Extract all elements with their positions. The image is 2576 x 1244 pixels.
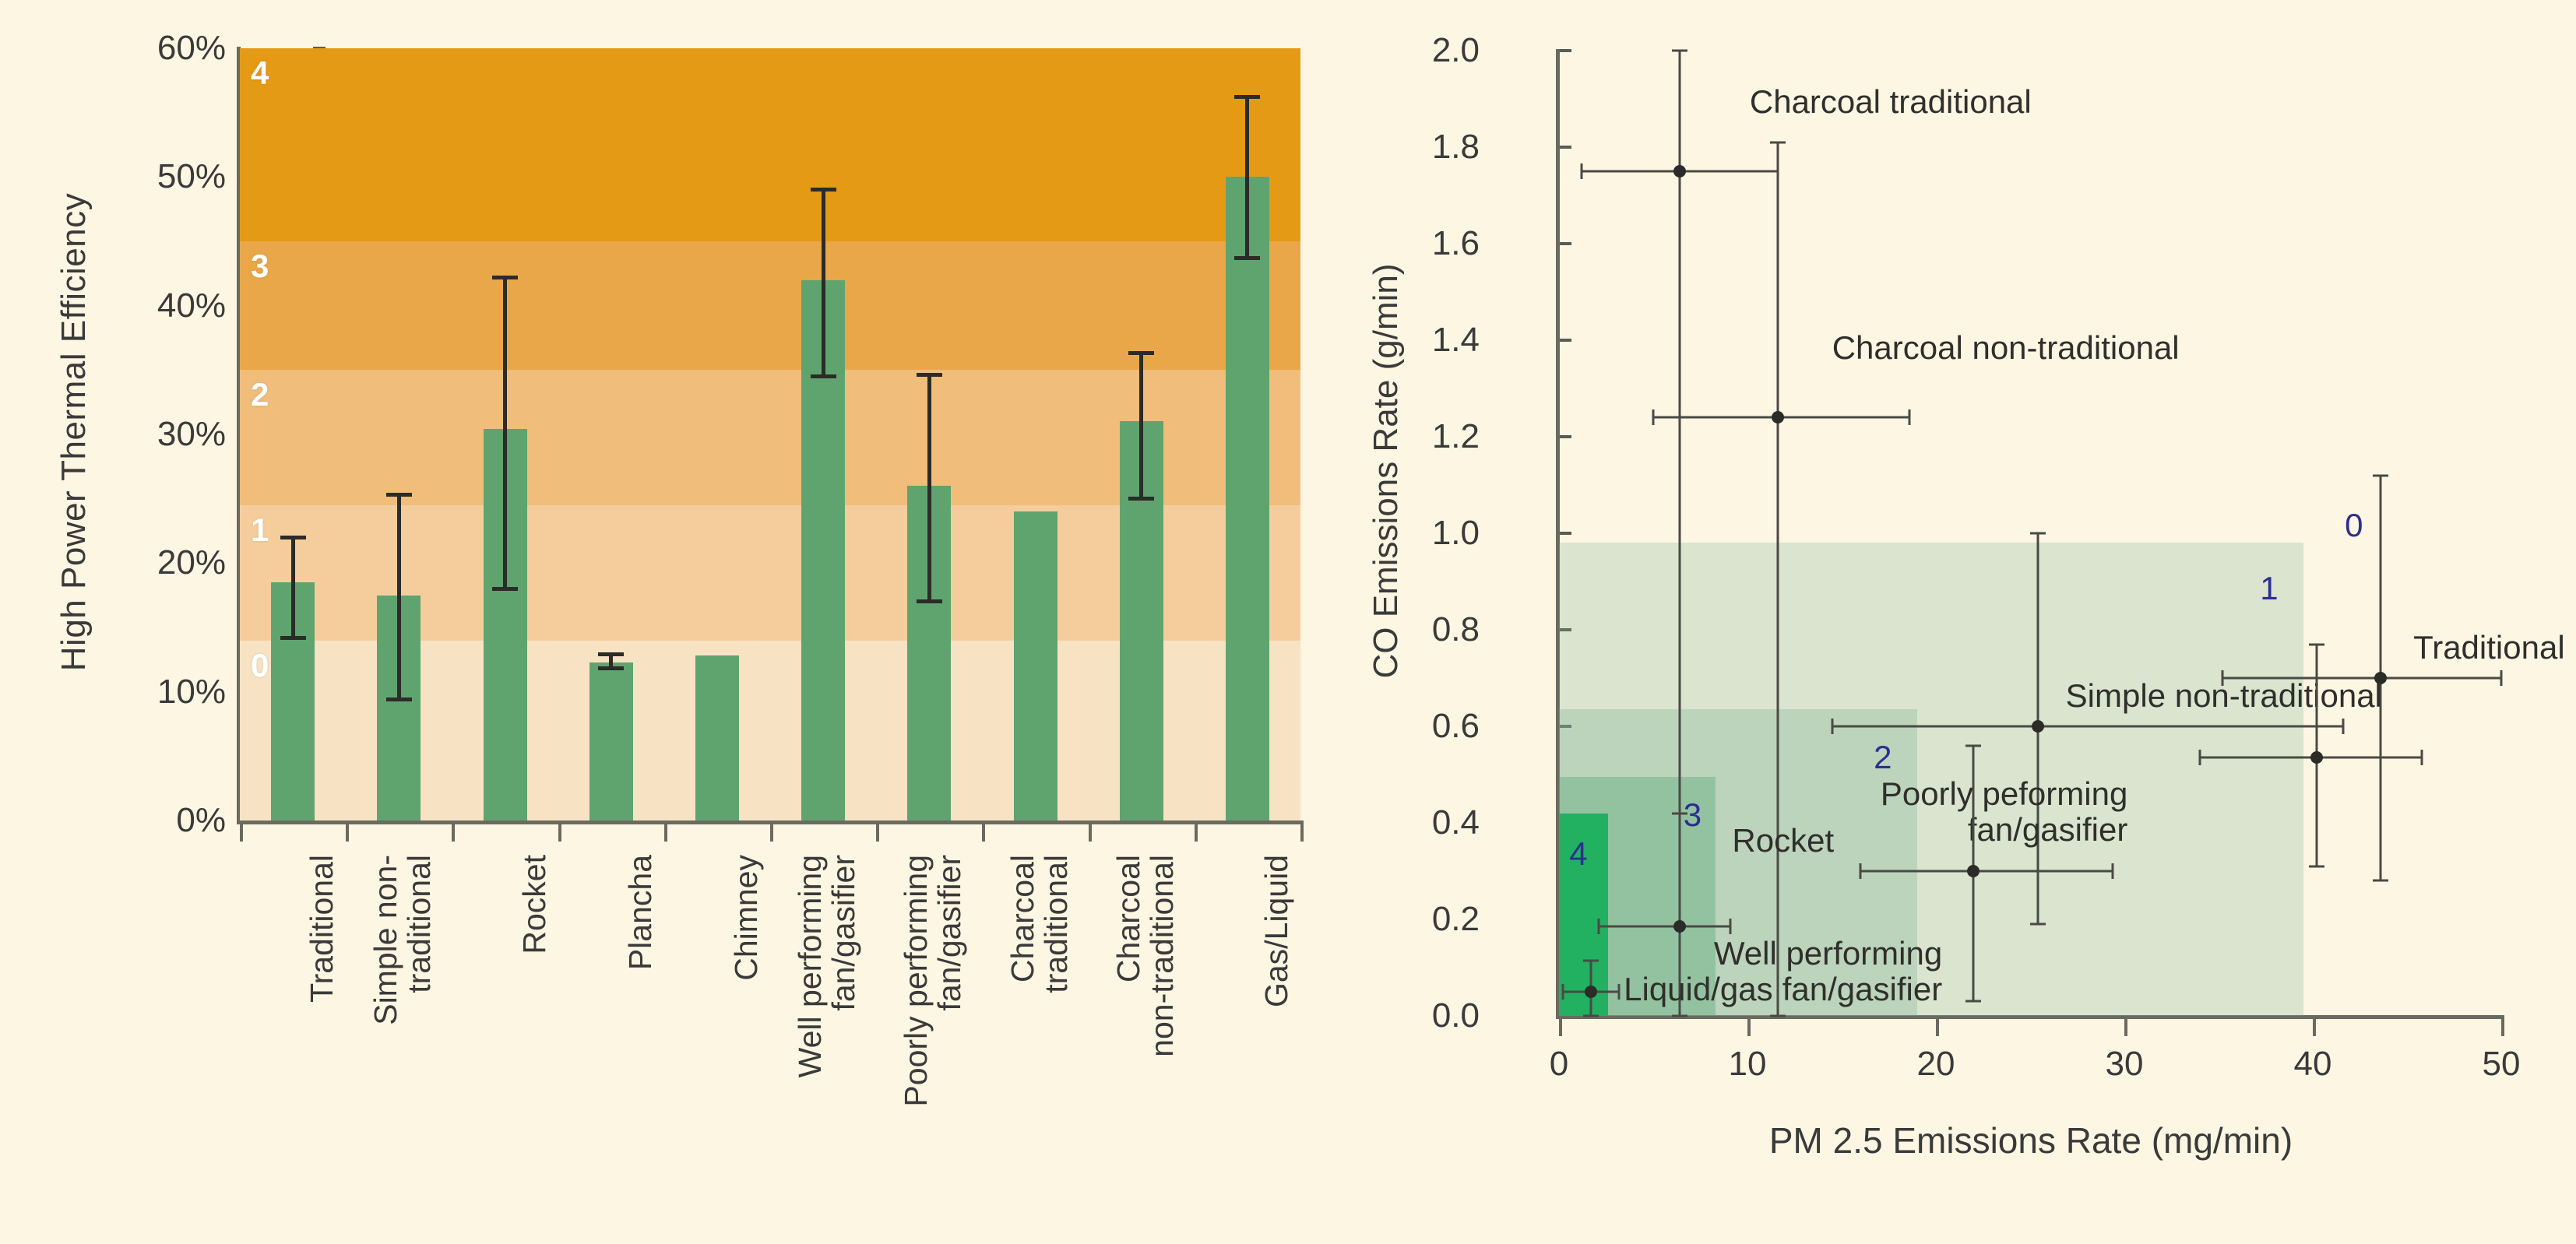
point-label-line1: Traditional xyxy=(2413,629,2565,666)
error-cap-0-low xyxy=(280,636,306,640)
y-error-cap-1 xyxy=(1770,1015,1786,1017)
error-cap-3-high xyxy=(598,652,624,656)
y-error-cap-7 xyxy=(1583,959,1599,961)
left-x-tick xyxy=(452,824,455,842)
x-category-label-0: Traditional xyxy=(305,855,339,1003)
left-x-tick xyxy=(982,824,985,842)
right-x-tick xyxy=(1559,1019,1562,1036)
x-error-cap-6 xyxy=(1597,919,1599,934)
x-category-line1: Chimney xyxy=(728,855,764,981)
tier-box-label-3: 3 xyxy=(1684,796,1701,834)
x-error-cap-6 xyxy=(1730,919,1732,934)
error-cap-0-high xyxy=(280,536,306,539)
point-label-line1: Charcoal traditional xyxy=(1750,83,2032,120)
y-error-cap-3 xyxy=(2030,532,2046,535)
error-cap-1-high xyxy=(386,493,412,497)
right-x-tick-label: 30 xyxy=(2078,1045,2171,1084)
y-error-cap-5 xyxy=(1965,1000,1981,1003)
right-x-tick-label: 50 xyxy=(2455,1045,2548,1084)
y-error-line-1 xyxy=(1776,142,1779,1016)
right-y-tick-label: 0.4 xyxy=(1363,803,1480,842)
y-error-cap-2 xyxy=(2373,880,2388,882)
data-point-0 xyxy=(1673,165,1686,177)
y-error-cap-4 xyxy=(2309,865,2324,867)
error-bar-5 xyxy=(822,190,825,377)
right-x-tick xyxy=(1936,1019,1939,1036)
data-point-4 xyxy=(2310,751,2323,764)
x-category-line1: Plancha xyxy=(622,855,658,970)
error-cap-8-high xyxy=(1128,351,1154,355)
left-y-tick-label: 60% xyxy=(93,29,226,68)
x-category-label-8: Charcoalnon-traditional xyxy=(1112,855,1180,1057)
right-x-tick-label: 0 xyxy=(1512,1045,1606,1084)
left-x-tick xyxy=(876,824,879,842)
left-y-tick-label: 10% xyxy=(93,673,226,712)
y-error-cap-0 xyxy=(1672,50,1687,52)
point-label-line1: Poorly peforming xyxy=(1881,775,2127,812)
left-x-tick xyxy=(240,824,243,842)
point-label-line1: Charcoal non-traditional xyxy=(1832,329,2180,366)
y-error-cap-4 xyxy=(2309,643,2324,645)
y-error-cap-6 xyxy=(1672,812,1687,814)
error-cap-6-low xyxy=(917,599,942,603)
right-y-tick-label: 0.8 xyxy=(1363,610,1480,649)
x-category-line1: Simple non- xyxy=(368,855,403,1025)
x-category-label-3: Plancha xyxy=(624,855,657,970)
y-error-cap-2 xyxy=(2373,474,2388,476)
x-category-line2: non-traditional xyxy=(1145,855,1179,1057)
tier-box-label-0: 0 xyxy=(2345,507,2363,544)
point-label-4: Poorly peformingfan/gasifier xyxy=(1881,776,2127,847)
tier-band-label: 4 xyxy=(251,54,269,92)
x-error-cap-3 xyxy=(1831,719,1833,734)
left-x-tick xyxy=(346,824,349,842)
right-y-tick-label: 0.2 xyxy=(1363,900,1480,939)
x-category-line2: fan/gasifier xyxy=(828,855,861,1077)
x-error-cap-0 xyxy=(1581,163,1583,179)
right-x-tick-label: 40 xyxy=(2266,1045,2360,1084)
data-point-7 xyxy=(1585,986,1597,998)
tier-band-label: 0 xyxy=(251,647,269,684)
y-error-cap-7 xyxy=(1583,1015,1599,1017)
right-y-tick-label: 1.4 xyxy=(1363,321,1480,360)
left-x-tick xyxy=(558,824,561,842)
right-x-tick xyxy=(2501,1019,2504,1036)
right-x-axis-title: PM 2.5 Emissions Rate (mg/min) xyxy=(1557,1119,2504,1161)
x-error-cap-1 xyxy=(1909,409,1911,425)
left-y-tick-column: 0%10%20%30%40%50%60% xyxy=(86,0,226,1244)
data-point-6 xyxy=(1673,920,1686,933)
right-y-tick-label: 1.2 xyxy=(1363,417,1480,456)
right-y-tick-column: 0.00.20.40.60.81.01.21.41.61.82.0 xyxy=(1355,0,1480,1244)
x-category-line1: Charcoal xyxy=(1110,855,1146,982)
tier-band-4: 4 xyxy=(240,48,1300,241)
left-x-tick xyxy=(770,824,773,842)
left-y-tick-label: 30% xyxy=(93,415,226,454)
left-y-tick-label: 50% xyxy=(93,157,226,196)
x-category-label-4: Chimney xyxy=(730,855,763,981)
x-error-cap-1 xyxy=(1652,409,1655,425)
right-x-tick xyxy=(2124,1019,2127,1036)
right-y-tick-label: 1.0 xyxy=(1363,514,1480,553)
x-category-label-5: Well performingfan/gasifier xyxy=(794,855,861,1077)
bar-9 xyxy=(1226,177,1269,821)
x-category-line2: traditional xyxy=(1040,855,1073,993)
error-bar-1 xyxy=(397,495,401,700)
x-error-cap-4 xyxy=(2421,750,2423,765)
bar-3 xyxy=(589,662,633,821)
point-label-line1: Liquid/gas xyxy=(1624,971,1772,1007)
tier-band-label: 1 xyxy=(251,511,269,549)
point-label-2: Traditional xyxy=(2413,630,2565,665)
right-plot-area: 01234Charcoal traditionalCharcoal non-tr… xyxy=(1559,51,2501,1016)
x-error-cap-7 xyxy=(1618,984,1621,1000)
left-y-tick-label: 20% xyxy=(93,543,226,582)
figure-root: High Power Thermal Efficiency 0%10%20%30… xyxy=(0,0,2576,1244)
x-category-line2: fan/gasifier xyxy=(934,855,967,1107)
left-bar-chart-panel: High Power Thermal Efficiency 0%10%20%30… xyxy=(0,0,1324,1244)
x-error-line-6 xyxy=(1599,926,1730,928)
point-label-7: Liquid/gas xyxy=(1624,972,1772,1007)
left-y-tick-label: 0% xyxy=(93,801,226,840)
bar-7 xyxy=(1014,511,1057,821)
point-label-5: Rocket xyxy=(1732,823,1834,858)
right-y-tick-label: 1.8 xyxy=(1363,128,1480,167)
point-label-line1: Well performing xyxy=(1714,935,1942,972)
point-label-1: Charcoal non-traditional xyxy=(1832,330,2180,365)
x-category-line1: Well performing xyxy=(792,855,828,1077)
right-scatter-panel: CO Emissions Rate (g/min) 0.00.20.40.60.… xyxy=(1324,0,2576,1244)
right-y-tick-label: 2.0 xyxy=(1363,31,1480,70)
right-y-tick-label: 0.0 xyxy=(1363,996,1480,1035)
x-error-cap-4 xyxy=(2198,750,2201,765)
error-cap-2-low xyxy=(492,587,518,591)
tier-band-label: 2 xyxy=(251,376,269,413)
x-category-line1: Charcoal xyxy=(1005,855,1040,982)
x-category-label-2: Rocket xyxy=(518,855,551,954)
data-point-5 xyxy=(1967,865,1980,877)
y-error-cap-3 xyxy=(2030,923,2046,926)
x-category-line1: Rocket xyxy=(516,855,552,954)
point-label-3: Simple non-traditional xyxy=(2066,678,2382,713)
x-error-line-5 xyxy=(1860,870,2113,873)
x-category-label-9: Gas/Liquid xyxy=(1260,855,1293,1007)
error-bar-9 xyxy=(1245,97,1249,258)
right-x-tick-label: 10 xyxy=(1701,1045,1794,1084)
data-point-1 xyxy=(1772,411,1784,423)
right-y-tick-label: 1.6 xyxy=(1363,224,1480,263)
error-cap-8-low xyxy=(1128,497,1154,501)
x-error-cap-5 xyxy=(1860,863,1862,879)
x-error-cap-3 xyxy=(2342,719,2344,734)
bar-4 xyxy=(695,655,739,821)
right-x-tick-label: 20 xyxy=(1889,1045,1983,1084)
error-cap-5-high xyxy=(811,188,836,192)
x-category-line1: Gas/Liquid xyxy=(1258,855,1294,1007)
right-x-tick xyxy=(2313,1019,2316,1036)
x-category-line2: traditional xyxy=(403,855,437,1025)
tier-box-label-1: 1 xyxy=(2260,570,2278,607)
left-x-tick xyxy=(664,824,667,842)
tier-band-label: 3 xyxy=(251,248,269,285)
error-bar-6 xyxy=(927,375,931,602)
left-x-tick xyxy=(1089,824,1092,842)
point-label-line2: fan/gasifier xyxy=(1881,812,2127,847)
error-cap-3-low xyxy=(598,666,624,670)
x-category-line1: Traditional xyxy=(304,855,340,1003)
x-category-line1: Poorly performing xyxy=(898,855,934,1107)
x-error-line-3 xyxy=(1832,726,2343,728)
tier-box-label-4: 4 xyxy=(1569,835,1587,873)
left-x-tick xyxy=(1300,824,1304,842)
tier-box-label-2: 2 xyxy=(1874,739,1892,776)
point-label-line1: Simple non-traditional xyxy=(2066,677,2382,714)
y-error-cap-6 xyxy=(1672,1015,1687,1017)
x-error-cap-5 xyxy=(2112,863,2114,879)
data-point-3 xyxy=(2032,720,2044,733)
error-cap-1-low xyxy=(386,698,412,701)
error-bar-8 xyxy=(1139,353,1143,499)
error-bar-0 xyxy=(291,537,295,638)
error-cap-5-low xyxy=(811,374,836,378)
error-cap-2-high xyxy=(492,276,518,279)
left-plot-area: 01234 xyxy=(240,48,1300,821)
x-category-label-7: Charcoaltraditional xyxy=(1006,855,1074,993)
error-cap-6-high xyxy=(917,373,942,377)
left-x-tick xyxy=(1195,824,1198,842)
error-cap-9-low xyxy=(1234,256,1260,260)
point-label-0: Charcoal traditional xyxy=(1750,84,2032,119)
x-error-cap-2 xyxy=(2500,670,2503,686)
left-y-tick-label: 40% xyxy=(93,286,226,325)
y-error-cap-1 xyxy=(1770,141,1786,143)
x-category-label-6: Poorly performingfan/gasifier xyxy=(899,855,967,1107)
right-y-tick-label: 0.6 xyxy=(1363,707,1480,746)
error-bar-2 xyxy=(503,277,507,589)
point-label-line1: Rocket xyxy=(1732,822,1834,859)
y-error-cap-5 xyxy=(1965,744,1981,747)
x-error-cap-7 xyxy=(1561,984,1564,1000)
error-cap-9-high xyxy=(1234,95,1260,99)
x-category-label-1: Simple non-traditional xyxy=(369,855,437,1025)
right-x-tick xyxy=(1747,1019,1751,1036)
